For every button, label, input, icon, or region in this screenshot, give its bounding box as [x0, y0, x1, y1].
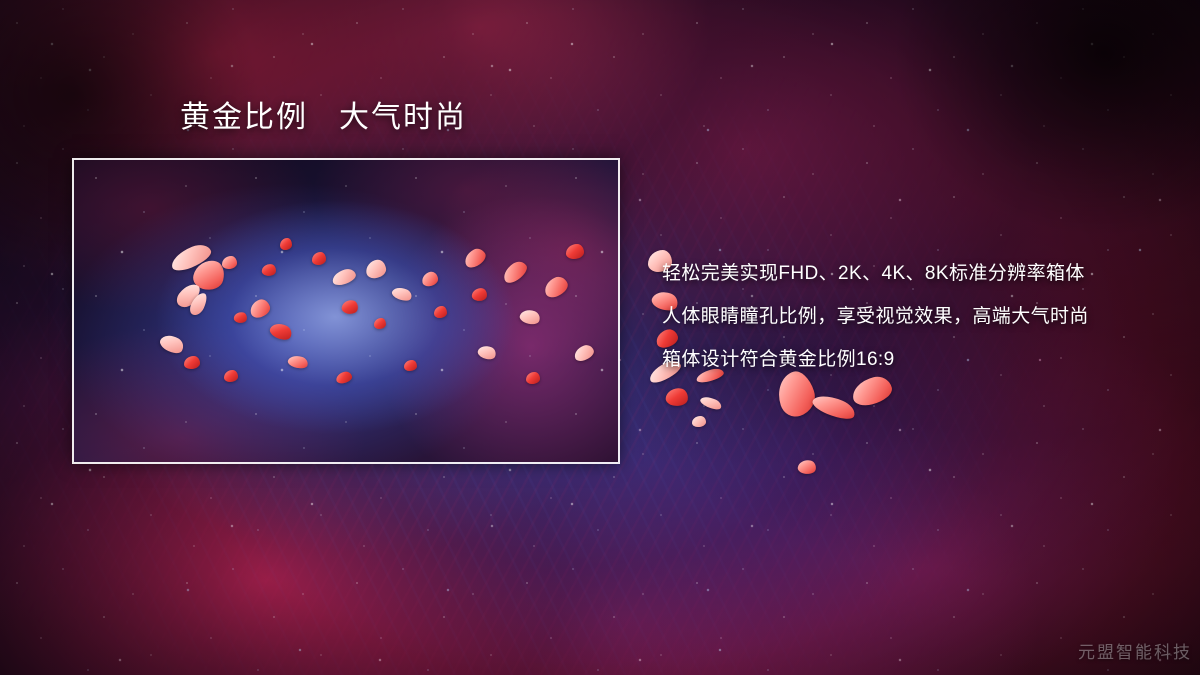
petal	[797, 459, 817, 476]
body-line-3: 箱体设计符合黄金比例16:9	[662, 338, 1162, 381]
petal	[665, 387, 689, 408]
petal	[699, 394, 723, 412]
page-title: 黄金比例 大气时尚	[180, 100, 467, 136]
body-line-2: 人体眼睛瞳孔比例，享受视觉效果，高端大气时尚	[662, 295, 1162, 338]
petal	[692, 416, 706, 427]
picture-starfield	[74, 160, 618, 462]
presentation-slide: 黄金比例 大气时尚 轻松完美实现FHD、2K、4K、8K标准分辨率箱体 人体眼睛…	[0, 0, 1200, 675]
watermark-label: 元盟智能科技	[1078, 638, 1192, 663]
body-text-block: 轻松完美实现FHD、2K、4K、8K标准分辨率箱体 人体眼睛瞳孔比例，享受视觉效…	[662, 252, 1162, 381]
framed-image	[72, 158, 620, 464]
petal	[810, 390, 858, 423]
body-line-1: 轻松完美实现FHD、2K、4K、8K标准分辨率箱体	[662, 252, 1162, 295]
